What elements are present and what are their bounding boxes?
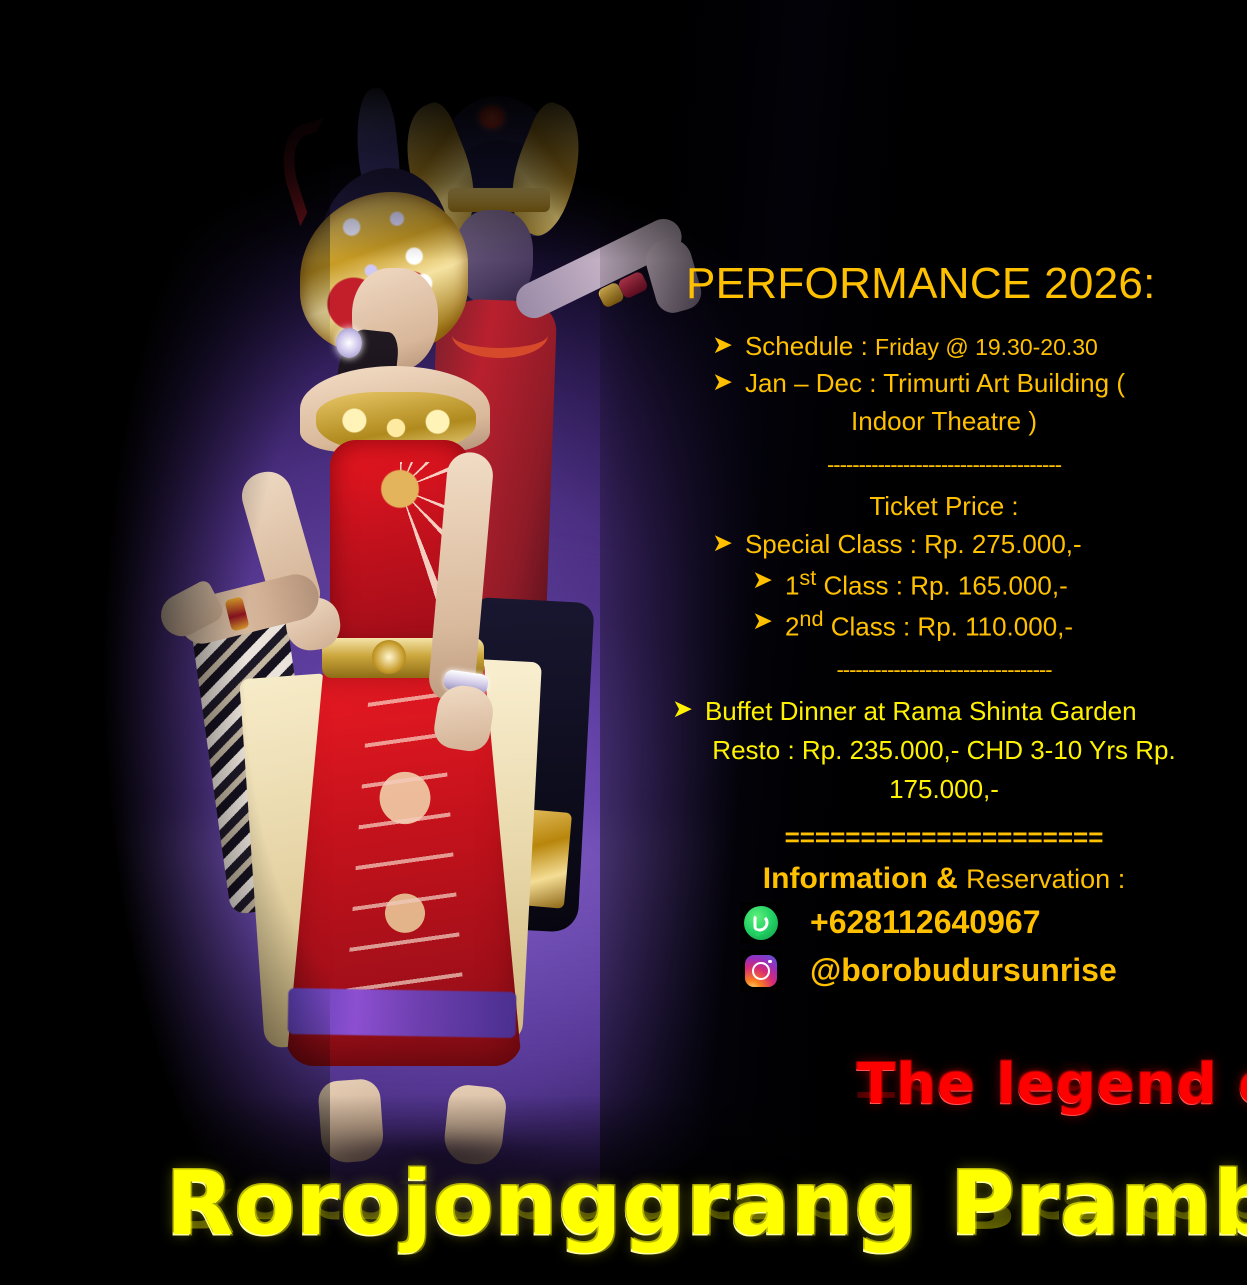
bullet-arrow-icon: ➤ [752,604,773,640]
main-title-reflection: Rorojonggrang Prambanan [166,1176,1247,1240]
bullet-arrow-icon: ➤ [752,563,773,599]
ticket-second-sup: nd [799,606,823,631]
whatsapp-bubble [744,906,778,940]
ticket-special-label: Special Class : Rp. 275.000,- [745,526,1082,563]
performance-heading: PERFORMANCE 2026: [664,262,1224,306]
venue-row: ➤ Jan – Dec : Trimurti Art Building ( [664,365,1224,402]
venue-line2: Indoor Theatre ) [664,402,1224,441]
whatsapp-contact-row[interactable]: +628112640967 [664,902,1224,944]
ticket-row-second: ➤ 2nd Class : Rp. 110.000,- [664,604,1224,646]
contact-heading-bold: Information [763,862,936,895]
schedule-value: Friday @ 19.30-20.30 [875,334,1098,360]
legend-title-reflection: The legend of [857,1058,1247,1105]
buffet-line1: Buffet Dinner at Rama Shinta Garden [705,692,1137,731]
bullet-arrow-icon: ➤ [712,526,733,562]
female-belt-gem [372,640,406,674]
ticket-price-title: Ticket Price : [664,487,1224,526]
whatsapp-handset-glyph [754,914,769,931]
separator-equals: ===================== [664,823,1224,852]
ticket-first-num: 1 [785,571,799,601]
bullet-arrow-icon: ➤ [672,692,693,728]
instagram-handle[interactable]: @borobudursunrise [810,952,1117,989]
ticket-second-num: 2 [785,612,799,642]
schedule-text: Schedule : Friday @ 19.30-20.30 [745,328,1098,365]
buffet-line3: 175.000,- [664,770,1224,809]
male-necklace [452,312,548,358]
info-panel: PERFORMANCE 2026: ➤ Schedule : Friday @ … [664,262,1224,992]
whatsapp-number[interactable]: +628112640967 [810,904,1040,941]
bullet-arrow-icon: ➤ [712,328,733,364]
venue-value: Trimurti Art Building ( [883,368,1125,398]
separator-dashes-2: ---------------------------------- [664,658,1224,682]
poster-canvas: PERFORMANCE 2026: ➤ Schedule : Friday @ … [0,0,1247,1285]
contact-heading-thin: Reservation : [966,864,1125,894]
vignette-left [0,0,330,1285]
buffet-row: ➤ Buffet Dinner at Rama Shinta Garden [664,692,1224,731]
separator-dashes-1: ------------------------------------- [664,453,1224,477]
ticket-first-label: 1st Class : Rp. 165.000,- [785,563,1068,605]
venue-label: Jan – Dec : [745,368,883,398]
female-earring [336,328,362,358]
ticket-second-rest: Class : Rp. 110.000,- [824,612,1074,642]
ticket-first-sup: st [799,565,816,590]
schedule-label: Schedule : [745,331,875,361]
whatsapp-icon[interactable] [740,902,782,944]
buffet-line2: Resto : Rp. 235.000,- CHD 3-10 Yrs Rp. [664,731,1224,770]
venue-text: Jan – Dec : Trimurti Art Building ( [745,365,1125,402]
ticket-row-special: ➤ Special Class : Rp. 275.000,- [664,526,1224,563]
contact-heading: Information & Reservation : [664,862,1224,896]
ticket-second-label: 2nd Class : Rp. 110.000,- [785,604,1073,646]
schedule-row: ➤ Schedule : Friday @ 19.30-20.30 [664,328,1224,365]
schedule-block: ➤ Schedule : Friday @ 19.30-20.30 ➤ Jan … [664,328,1224,441]
instagram-icon[interactable] [740,950,782,992]
ticket-first-rest: Class : Rp. 165.000,- [816,571,1067,601]
instagram-contact-row[interactable]: @borobudursunrise [664,950,1224,992]
instagram-camera-glyph [745,955,777,987]
ticket-row-first: ➤ 1st Class : Rp. 165.000,- [664,563,1224,605]
contact-heading-amp: & [936,862,966,895]
bullet-arrow-icon: ➤ [712,365,733,401]
